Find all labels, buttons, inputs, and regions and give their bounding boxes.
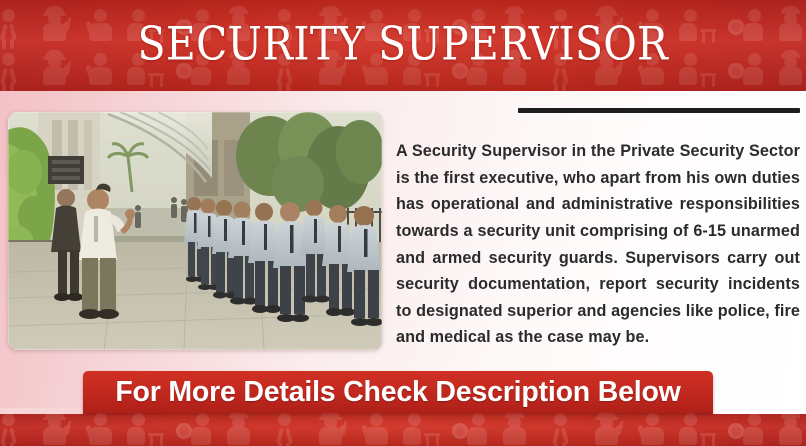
footer-notch-right	[713, 408, 806, 414]
footer-notch-left	[0, 408, 83, 414]
security-guards-photo	[8, 112, 382, 350]
cta-label: For More Details Check Description Below	[115, 376, 680, 409]
footer-sheen	[0, 408, 806, 446]
section-divider-rule	[518, 108, 800, 113]
header-title-wrap: SECURITY SUPERVISOR	[0, 0, 806, 91]
poster-canvas: SECURITY SUPERVISOR	[0, 0, 806, 446]
photo-illustration	[8, 112, 382, 350]
page-title: SECURITY SUPERVISOR	[138, 22, 669, 68]
cta-banner[interactable]: For More Details Check Description Below	[83, 371, 713, 413]
description-paragraph: A Security Supervisor in the Private Sec…	[396, 138, 800, 351]
footer-banner	[0, 408, 806, 446]
header-banner: SECURITY SUPERVISOR	[0, 0, 806, 91]
